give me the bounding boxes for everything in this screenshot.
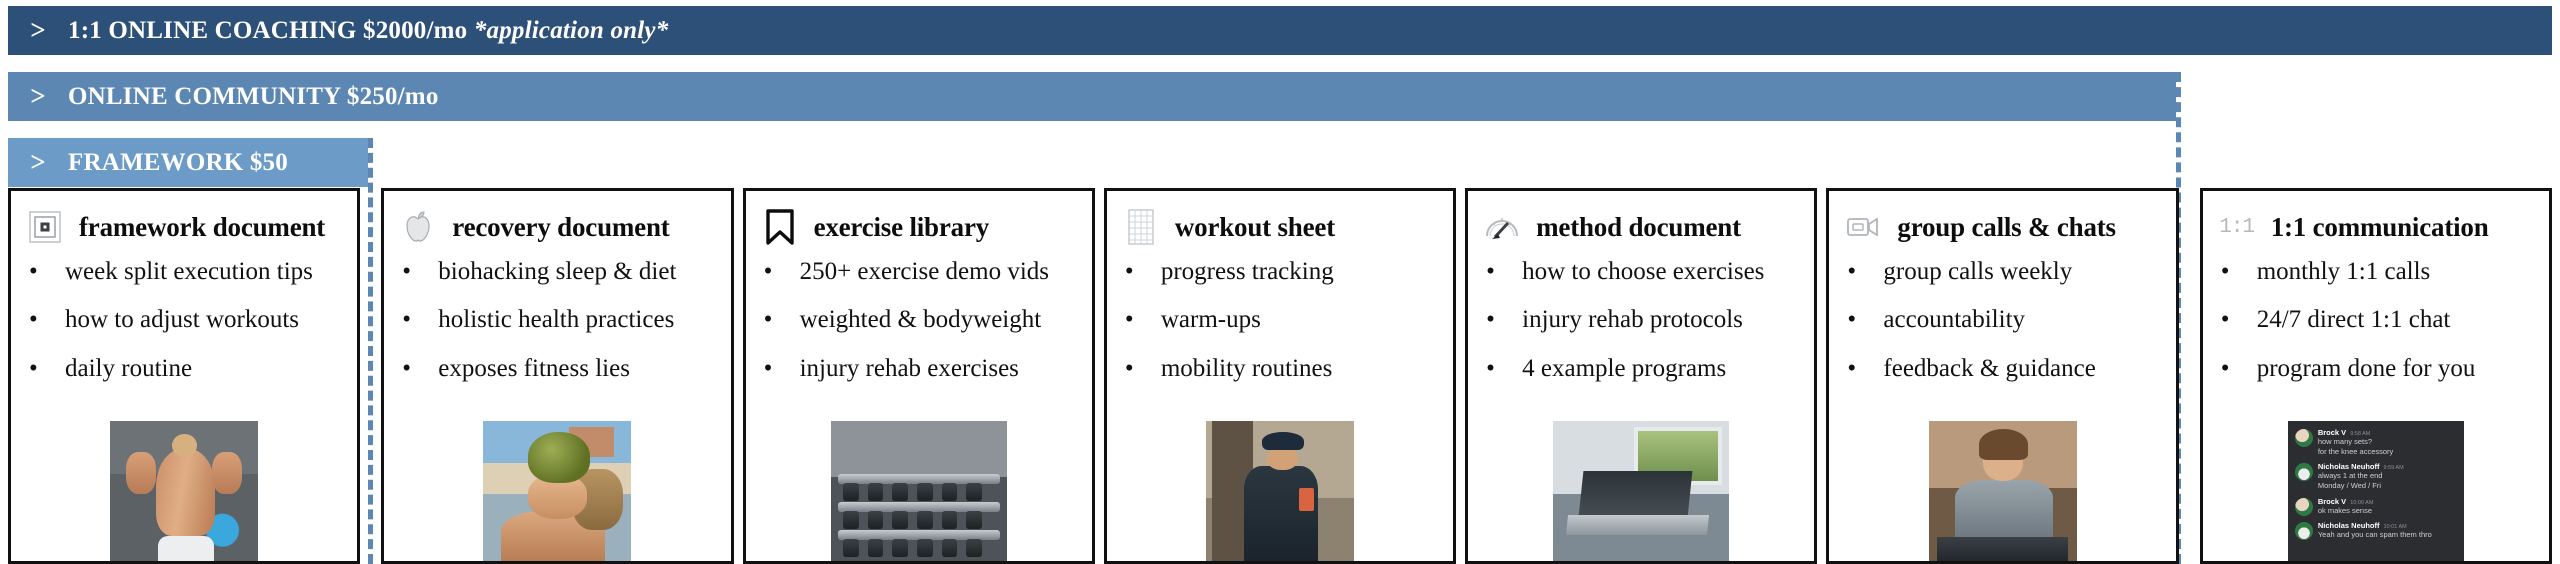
- card-header: group calls & chats: [1829, 201, 2175, 247]
- avatar: [2295, 463, 2313, 481]
- bullet-glyph: •: [764, 307, 800, 332]
- list-item: •holistic health practices: [384, 307, 730, 333]
- framework-document-icon: [23, 208, 67, 246]
- card-header: 1:1 1:1 communication: [2203, 201, 2549, 247]
- bullet-glyph: •: [29, 259, 65, 284]
- bullet-glyph: •: [2221, 356, 2257, 381]
- list-item: •program done for you: [2203, 356, 2549, 382]
- card-title: group calls & chats: [1897, 212, 2115, 243]
- list-item: •injury rehab protocols: [1468, 307, 1814, 333]
- young-man-at-laptop-photo: [1929, 421, 2077, 561]
- bullet-text: exposes fitness lies: [438, 356, 630, 382]
- feature-card-method-document[interactable]: method document •how to choose exercises…: [1465, 188, 1817, 564]
- list-item: •24/7 direct 1:1 chat: [2203, 307, 2549, 333]
- chat-text: for the knee accessory: [2318, 447, 2393, 457]
- feature-card-framework-document[interactable]: framework document •week split execution…: [8, 188, 360, 564]
- bullet-glyph: •: [402, 356, 438, 381]
- chat-text: Yeah and you can spam them thro: [2318, 530, 2432, 540]
- gym-back-double-biceps-photo: [110, 421, 258, 561]
- card-header: recovery document: [384, 201, 730, 247]
- chat-message: Brock V 10:00 AM ok makes sense: [2295, 497, 2458, 516]
- bullet-text: program done for you: [2257, 356, 2476, 382]
- list-item: •daily routine: [11, 356, 357, 382]
- bullet-glyph: •: [764, 259, 800, 284]
- bullet-text: how to choose exercises: [1522, 259, 1764, 285]
- bullet-text: weighted & bodyweight: [800, 307, 1042, 333]
- tier-bar-community[interactable]: > ONLINE COMMUNITY $250/mo: [8, 72, 2176, 121]
- bullet-text: warm-ups: [1161, 307, 1261, 333]
- list-item: •accountability: [1829, 307, 2175, 333]
- list-item: •mobility routines: [1107, 356, 1453, 382]
- bullet-glyph: •: [1125, 307, 1161, 332]
- chevron-right-icon: >: [8, 81, 68, 112]
- card-title: exercise library: [814, 212, 989, 243]
- bullet-text: biohacking sleep & diet: [438, 259, 676, 285]
- chat-author: Nicholas Neuhoff: [2318, 521, 2380, 530]
- card-title: method document: [1536, 212, 1741, 243]
- tier-label-coaching: 1:1 ONLINE COACHING $2000/mo *applicatio…: [68, 17, 668, 45]
- card-header: framework document: [11, 201, 357, 247]
- bullet-glyph: •: [1486, 307, 1522, 332]
- avatar: [2295, 498, 2313, 516]
- feature-card-group-calls-chats[interactable]: group calls & chats •group calls weekly …: [1826, 188, 2178, 564]
- chat-text: ok makes sense: [2318, 506, 2374, 516]
- bullet-glyph: •: [1847, 307, 1883, 332]
- card-title: framework document: [79, 212, 325, 243]
- bullet-text: week split execution tips: [65, 259, 313, 285]
- card-header: workout sheet: [1107, 201, 1453, 247]
- list-item: •progress tracking: [1107, 259, 1453, 285]
- chevron-right-icon: >: [8, 147, 68, 178]
- bullet-glyph: •: [1486, 356, 1522, 381]
- man-with-cap-phone-photo: [1206, 421, 1354, 561]
- bullet-glyph: •: [764, 356, 800, 381]
- list-item: •how to adjust workouts: [11, 307, 357, 333]
- chevron-right-icon: >: [8, 15, 68, 46]
- card-header: method document: [1468, 201, 1814, 247]
- card-bullet-list: •group calls weekly •accountability •fee…: [1829, 259, 2175, 382]
- chat-timestamp: 10:00 AM: [2350, 500, 2373, 506]
- card-title: 1:1 communication: [2271, 212, 2489, 243]
- list-item: •monthly 1:1 calls: [2203, 259, 2549, 285]
- tier-label-community: ONLINE COMMUNITY $250/mo: [68, 83, 439, 111]
- chat-message: Nicholas Neuhoff 10:01 AM Yeah and you c…: [2295, 521, 2458, 540]
- list-item: •injury rehab exercises: [746, 356, 1092, 382]
- chat-text: how many sets?: [2318, 437, 2393, 447]
- bullet-glyph: •: [1847, 259, 1883, 284]
- tier-label-emphasis: *application only*: [474, 17, 669, 44]
- bullet-text: progress tracking: [1161, 259, 1334, 285]
- bullet-glyph: •: [2221, 259, 2257, 284]
- bullet-glyph: •: [29, 356, 65, 381]
- list-item: •how to choose exercises: [1468, 259, 1814, 285]
- feature-card-exercise-library[interactable]: exercise library •250+ exercise demo vid…: [743, 188, 1095, 564]
- card-bullet-list: •biohacking sleep & diet •holistic healt…: [384, 259, 730, 382]
- bullet-glyph: •: [1125, 259, 1161, 284]
- video-camera-icon: [1841, 208, 1885, 246]
- tier-label-text: 1:1 ONLINE COACHING $2000/mo: [68, 17, 467, 44]
- chat-author: Brock V: [2318, 428, 2346, 437]
- list-item: •warm-ups: [1107, 307, 1453, 333]
- feature-card-one-to-one-communication[interactable]: 1:1 1:1 communication •monthly 1:1 calls…: [2200, 188, 2552, 564]
- list-item: •group calls weekly: [1829, 259, 2175, 285]
- one-to-one-icon-text: 1:1: [2219, 216, 2254, 239]
- drinking-coconut-photo: [483, 421, 631, 561]
- tier-bar-coaching[interactable]: > 1:1 ONLINE COACHING $2000/mo *applicat…: [8, 6, 2552, 55]
- laptop-on-desk-photo: [1553, 421, 1729, 561]
- chat-timestamp: 10:01 AM: [2384, 524, 2407, 530]
- card-bullet-list: •250+ exercise demo vids •weighted & bod…: [746, 259, 1092, 382]
- avatar: [2295, 429, 2313, 447]
- list-item: •biohacking sleep & diet: [384, 259, 730, 285]
- bullet-text: 250+ exercise demo vids: [800, 259, 1049, 285]
- chat-author: Brock V: [2318, 497, 2346, 506]
- chat-message: Nicholas Neuhoff 9:59 AM always 1 at the…: [2295, 462, 2458, 491]
- bullet-text: feedback & guidance: [1883, 356, 2095, 382]
- gauge-icon: [1480, 208, 1524, 246]
- list-item: •250+ exercise demo vids: [746, 259, 1092, 285]
- bullet-text: injury rehab protocols: [1522, 307, 1743, 333]
- spreadsheet-icon: [1119, 208, 1163, 246]
- bullet-glyph: •: [1125, 356, 1161, 381]
- bullet-text: holistic health practices: [438, 307, 674, 333]
- chat-text: Monday / Wed / Fri: [2318, 481, 2404, 491]
- bullet-glyph: •: [1847, 356, 1883, 381]
- dumbbell-rack-photo: [831, 421, 1007, 561]
- card-title: workout sheet: [1175, 212, 1335, 243]
- apple-icon: [396, 208, 440, 246]
- bullet-text: how to adjust workouts: [65, 307, 299, 333]
- bullet-text: accountability: [1883, 307, 2025, 333]
- pricing-tier-comparison: > 1:1 ONLINE COACHING $2000/mo *applicat…: [0, 0, 2560, 564]
- card-title: recovery document: [452, 212, 669, 243]
- card-bullet-list: •progress tracking •warm-ups •mobility r…: [1107, 259, 1453, 382]
- card-header: exercise library: [746, 201, 1092, 247]
- bullet-text: mobility routines: [1161, 356, 1333, 382]
- bullet-glyph: •: [29, 307, 65, 332]
- one-to-one-icon: 1:1: [2215, 208, 2259, 246]
- bullet-text: monthly 1:1 calls: [2257, 259, 2431, 285]
- feature-card-recovery-document[interactable]: recovery document •biohacking sleep & di…: [381, 188, 733, 564]
- chat-text: always 1 at the end: [2318, 471, 2404, 481]
- bullet-glyph: •: [402, 307, 438, 332]
- list-item: •exposes fitness lies: [384, 356, 730, 382]
- card-bullet-list: •how to choose exercises •injury rehab p…: [1468, 259, 1814, 382]
- feature-card-workout-sheet[interactable]: workout sheet •progress tracking •warm-u…: [1104, 188, 1456, 564]
- chat-author: Nicholas Neuhoff: [2318, 462, 2380, 471]
- list-item: •feedback & guidance: [1829, 356, 2175, 382]
- bullet-text: injury rehab exercises: [800, 356, 1019, 382]
- bullet-text: 4 example programs: [1522, 356, 1726, 382]
- chat-timestamp: 9:59 AM: [2384, 465, 2404, 471]
- card-bullet-list: •monthly 1:1 calls •24/7 direct 1:1 chat…: [2203, 259, 2549, 382]
- bullet-glyph: •: [1486, 259, 1522, 284]
- bullet-glyph: •: [402, 259, 438, 284]
- bullet-glyph: •: [2221, 307, 2257, 332]
- chat-message: Brock V 9:58 AM how many sets? for the k…: [2295, 428, 2458, 457]
- avatar: [2295, 522, 2313, 540]
- feature-card-row: framework document •week split execution…: [8, 188, 2552, 564]
- discord-chat-photo: Brock V 9:58 AM how many sets? for the k…: [2288, 421, 2464, 561]
- bullet-text: 24/7 direct 1:1 chat: [2257, 307, 2451, 333]
- bookmark-icon: [758, 208, 802, 246]
- list-item: •weighted & bodyweight: [746, 307, 1092, 333]
- list-item: •week split execution tips: [11, 259, 357, 285]
- bullet-text: group calls weekly: [1883, 259, 2072, 285]
- bullet-text: daily routine: [65, 356, 192, 382]
- list-item: •4 example programs: [1468, 356, 1814, 382]
- tier-bar-framework[interactable]: > FRAMEWORK $50: [8, 138, 368, 187]
- tier-label-framework: FRAMEWORK $50: [68, 149, 288, 177]
- card-bullet-list: •week split execution tips •how to adjus…: [11, 259, 357, 382]
